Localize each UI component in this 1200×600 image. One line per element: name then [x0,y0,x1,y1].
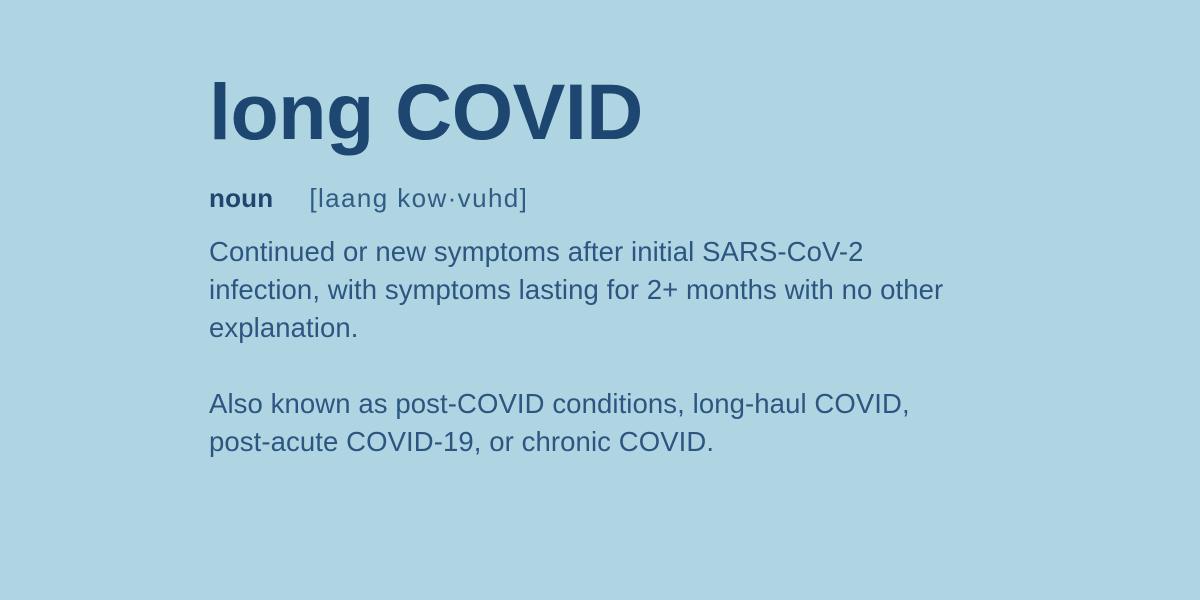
pronunciation-text: [laang kow·vuhd] [309,183,528,214]
part-of-speech-label: noun [209,183,273,214]
definition-card: long COVID noun [laang kow·vuhd] Continu… [0,0,1200,600]
pronunciation-row: noun [laang kow·vuhd] [209,183,999,213]
headword-title: long COVID [209,72,999,151]
definition-paragraph-aliases: Also known as post-COVID conditions, lon… [209,385,979,461]
definition-body: Continued or new symptoms after initial … [209,233,999,461]
definition-paragraph-primary: Continued or new symptoms after initial … [209,233,979,347]
definition-content: long COVID noun [laang kow·vuhd] Continu… [209,72,999,461]
